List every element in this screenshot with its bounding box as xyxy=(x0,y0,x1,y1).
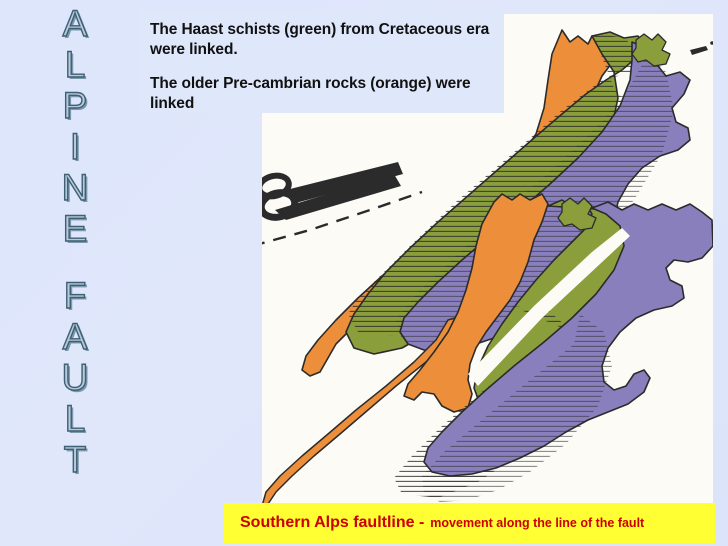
title-letter-i: I xyxy=(70,127,80,168)
title-letter-l2: L xyxy=(65,399,86,440)
faultline-caption-bar: Southern Alps faultline -movement along … xyxy=(224,503,715,543)
title-letter-a1: A xyxy=(63,4,88,45)
faultline-subtitle: movement along the line of the fault xyxy=(430,516,644,530)
title-letter-f: F xyxy=(64,276,87,317)
faultline-title: Southern Alps faultline - xyxy=(240,514,424,531)
title-letter-l1: L xyxy=(65,45,86,86)
title-letter-n: N xyxy=(62,168,89,209)
title-letter-u: U xyxy=(62,358,89,399)
slide-canvas: A L P I N E F A U L T xyxy=(0,0,728,546)
title-letter-t: T xyxy=(64,440,87,481)
caption-paragraph-2: The older Pre-cambrian rocks (orange) we… xyxy=(150,74,492,114)
explanatory-text-box: The Haast schists (green) from Cretaceou… xyxy=(140,10,504,113)
faultline-caption-inner: Southern Alps faultline -movement along … xyxy=(224,514,644,532)
title-letter-p: P xyxy=(63,86,88,127)
caption-paragraph-1: The Haast schists (green) from Cretaceou… xyxy=(150,20,492,60)
title-letter-e: E xyxy=(63,209,88,250)
vertical-title-alpine-fault: A L P I N E F A U L T xyxy=(36,4,114,542)
title-letter-a2: A xyxy=(63,317,88,358)
